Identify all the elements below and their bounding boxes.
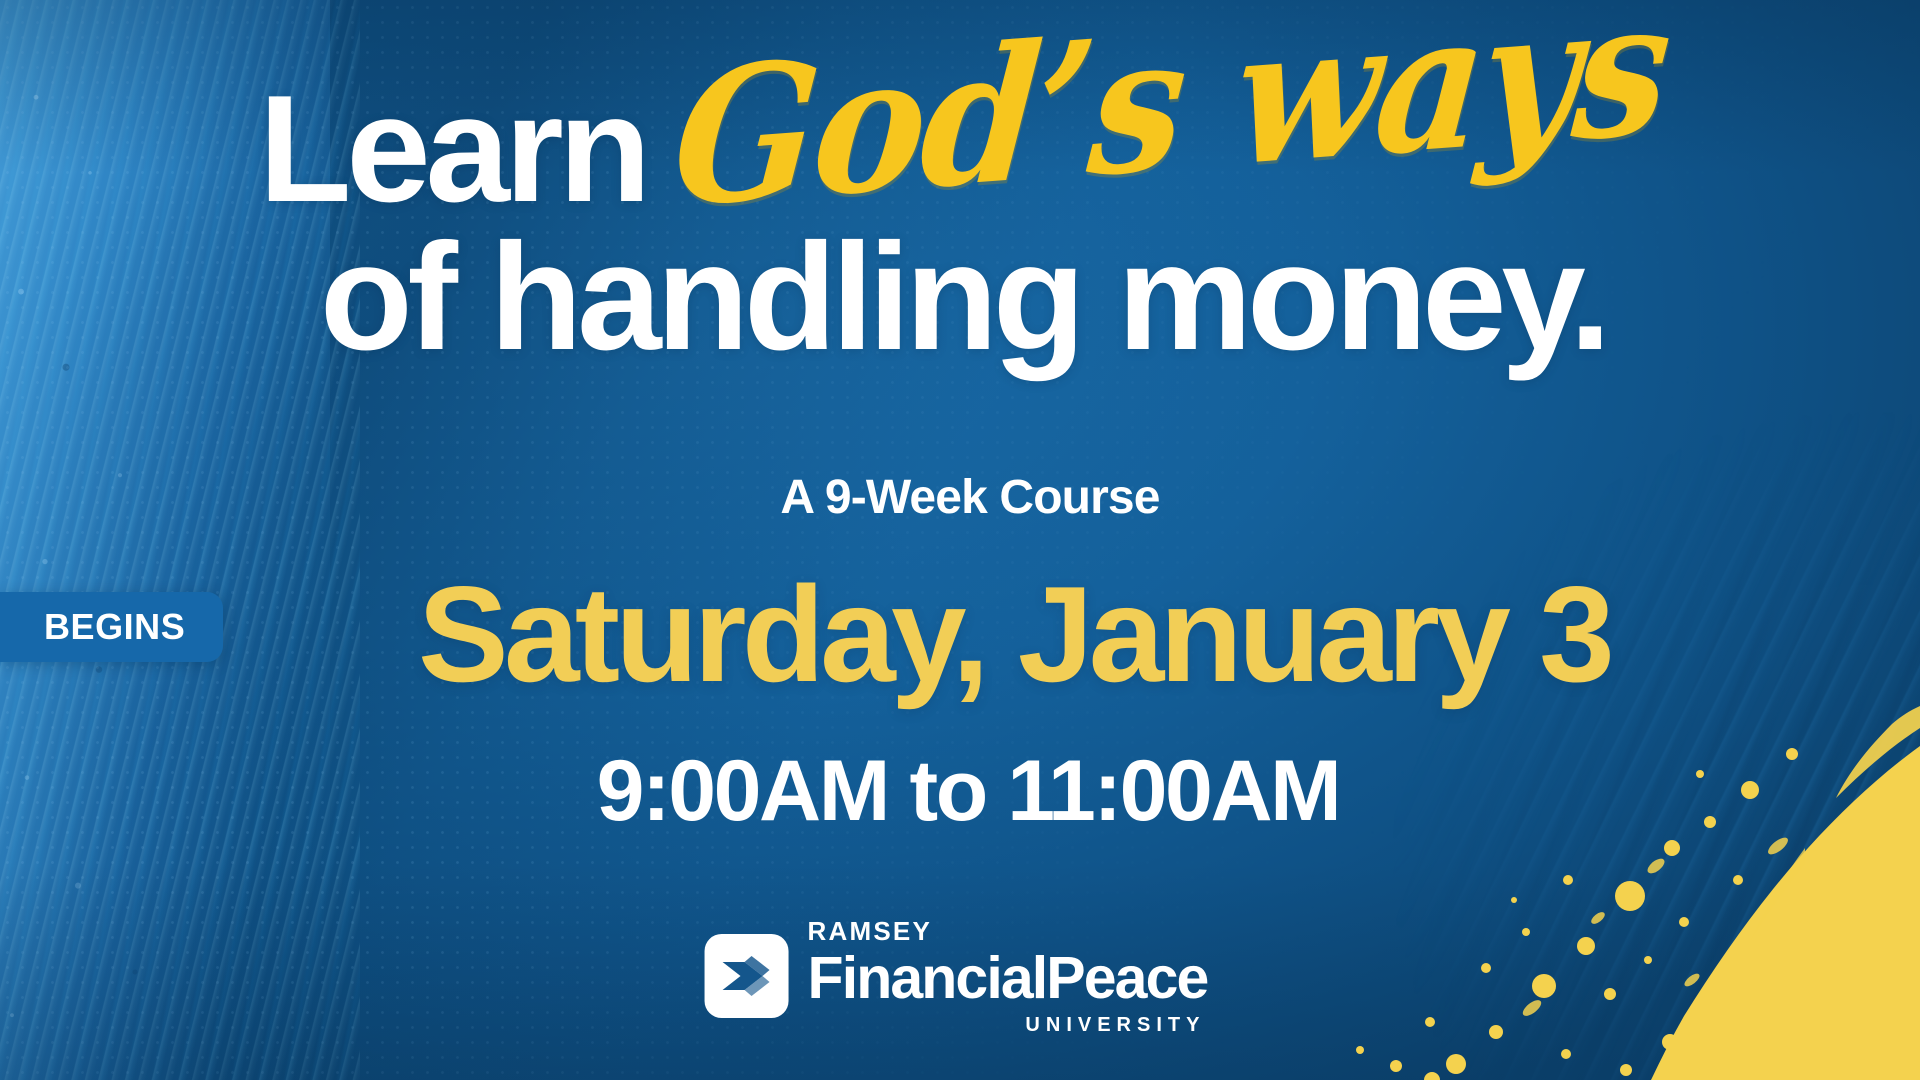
promo-banner: LearnGod’s ways of handling money. A 9-W… xyxy=(0,0,1920,1080)
start-date: Saturday, January 3 xyxy=(0,566,1920,702)
ramsey-chevron-arrow-icon xyxy=(705,934,789,1018)
headline-prefix: Learn xyxy=(259,64,646,234)
headline-script-accent: God’s ways xyxy=(668,0,1673,228)
logo-brand-ramsey: RAMSEY xyxy=(808,918,1208,944)
headline-line-1: LearnGod’s ways xyxy=(20,64,1906,222)
logo-product-name: FinancialPeace xyxy=(808,949,1208,1008)
logo-subbrand: UNIVERSITY xyxy=(808,1015,1208,1035)
logo-wordmark: RAMSEY FinancialPeace UNIVERSITY xyxy=(808,918,1208,1035)
headline: LearnGod’s ways of handling money. xyxy=(0,64,1920,369)
class-time: 9:00AM to 11:00AM xyxy=(0,748,1920,834)
course-subtitle: A 9-Week Course xyxy=(0,470,1920,525)
begins-badge: BEGINS xyxy=(0,592,223,662)
fpu-logo: RAMSEY FinancialPeace UNIVERSITY xyxy=(705,918,1208,1035)
headline-line-2: of handling money. xyxy=(20,226,1906,369)
